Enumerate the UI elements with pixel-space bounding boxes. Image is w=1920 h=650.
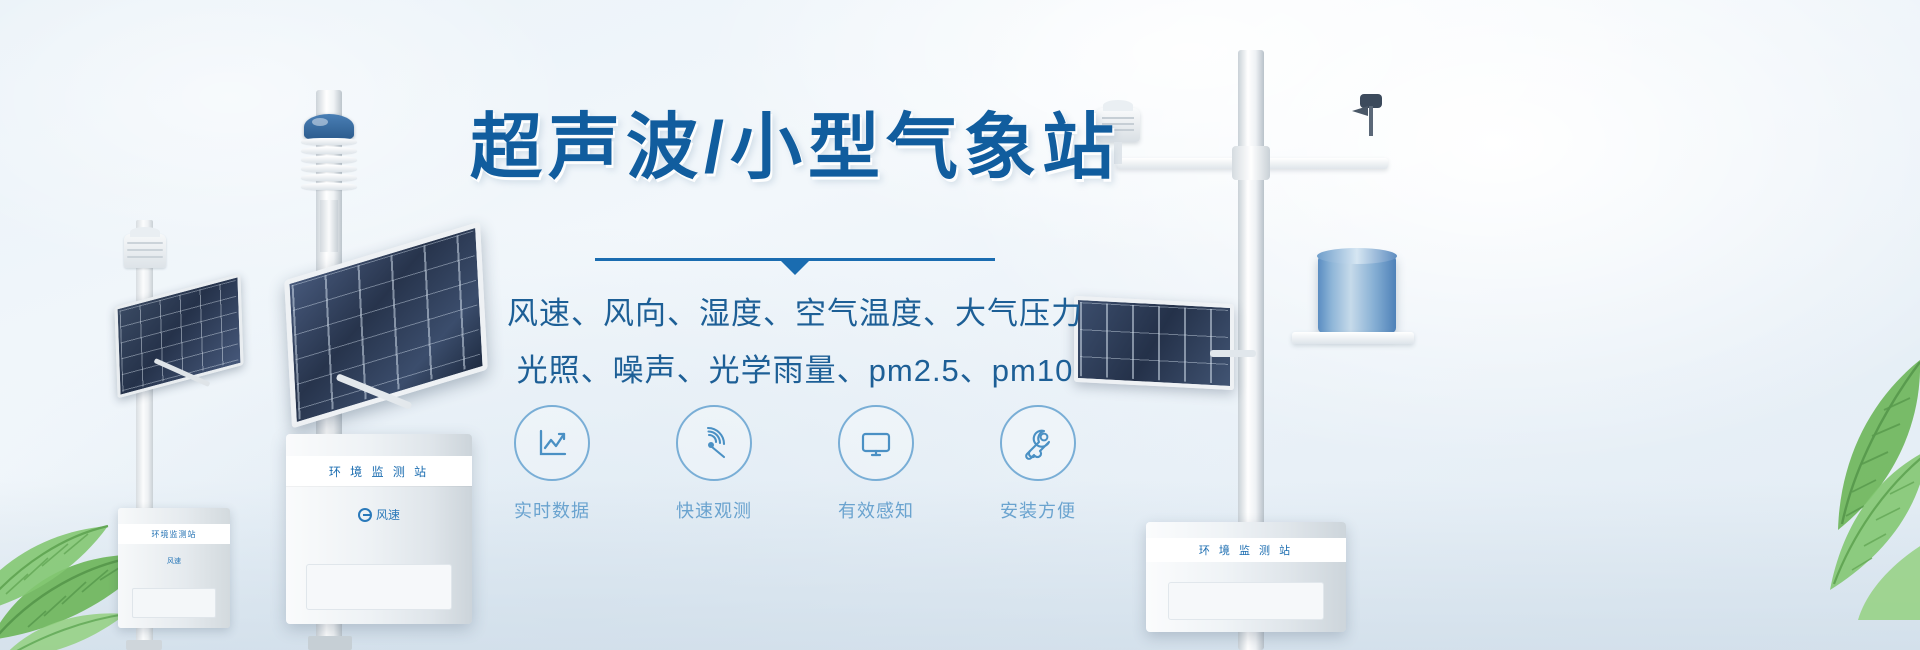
cabinet-label-band: 环境监测站: [118, 524, 230, 544]
feature-icon-circle: [676, 405, 752, 481]
title-divider: [595, 258, 995, 259]
panel-support-arm: [1210, 350, 1256, 357]
page-title: 超声波/小型气象站: [430, 112, 1160, 184]
solar-radiation-dome-sensor: [304, 114, 354, 140]
banner-text-content: 超声波/小型气象站 风速、风向、湿度、空气温度、大气压力 光照、噪声、光学雨量、…: [430, 0, 1160, 650]
brand-logo: 风速: [358, 506, 400, 523]
pole-base: [308, 636, 352, 650]
tropical-leaf-right-decoration: [1670, 340, 1920, 620]
cabinet-door: [132, 588, 216, 618]
sensor-neck: [320, 200, 338, 252]
feature-icon-circle: [514, 405, 590, 481]
control-cabinet: 环境监测站 风速: [118, 508, 230, 628]
feature-list: 实时数据 快速观测: [430, 405, 1160, 523]
rain-gauge-sensor: [1318, 255, 1396, 333]
brand-name-text: 风速: [376, 506, 400, 523]
signal-wave-icon: [694, 423, 734, 463]
feature-item-effective-sensing[interactable]: 有效感知: [816, 405, 936, 523]
cabinet-label-text: 环境监测站: [152, 529, 197, 540]
radiation-shield-sensor: [124, 234, 166, 268]
sensor-shelf: [1292, 332, 1414, 344]
feature-label: 实时数据: [492, 497, 612, 523]
product-banner: 环境监测站 风速 环 境 监 测 站 风速: [0, 0, 1920, 650]
solar-panel: [114, 274, 243, 399]
feature-item-realtime-data[interactable]: 实时数据: [492, 405, 612, 523]
feature-label: 快速观测: [654, 497, 774, 523]
cabinet-label-text: 环 境 监 测 站: [1199, 542, 1293, 558]
mast-collar: [1232, 146, 1270, 180]
radiation-shield-sensor: [301, 138, 357, 200]
brand-logo: 风速: [167, 556, 181, 566]
cabinet-label-band: 环 境 监 测 站: [1146, 538, 1346, 562]
subtitle-line-1: 风速、风向、湿度、空气温度、大气压力: [430, 288, 1160, 333]
feature-item-fast-observation[interactable]: 快速观测: [654, 405, 774, 523]
wind-vane-sensor: [1356, 94, 1386, 136]
control-cabinet: 环 境 监 测 站: [1146, 522, 1346, 632]
weather-station-left: 环境监测站 风速: [108, 220, 268, 650]
feature-item-easy-installation[interactable]: 安装方便: [978, 405, 1098, 523]
line-chart-icon: [532, 423, 572, 463]
feature-label: 有效感知: [816, 497, 936, 523]
cabinet-door: [1168, 582, 1324, 620]
divider-triangle-marker: [781, 261, 809, 275]
feature-label: 安装方便: [978, 497, 1098, 523]
feature-icon-circle: [1000, 405, 1076, 481]
pole-base: [126, 640, 162, 650]
feature-icon-circle: [838, 405, 914, 481]
monitor-icon: [856, 423, 896, 463]
brand-mark-icon: [358, 508, 372, 522]
cabinet-label-text: 环 境 监 测 站: [329, 463, 429, 480]
subtitle-line-2: 光照、噪声、光学雨量、pm2.5、pm10: [430, 345, 1160, 390]
wrench-icon: [1018, 423, 1058, 463]
